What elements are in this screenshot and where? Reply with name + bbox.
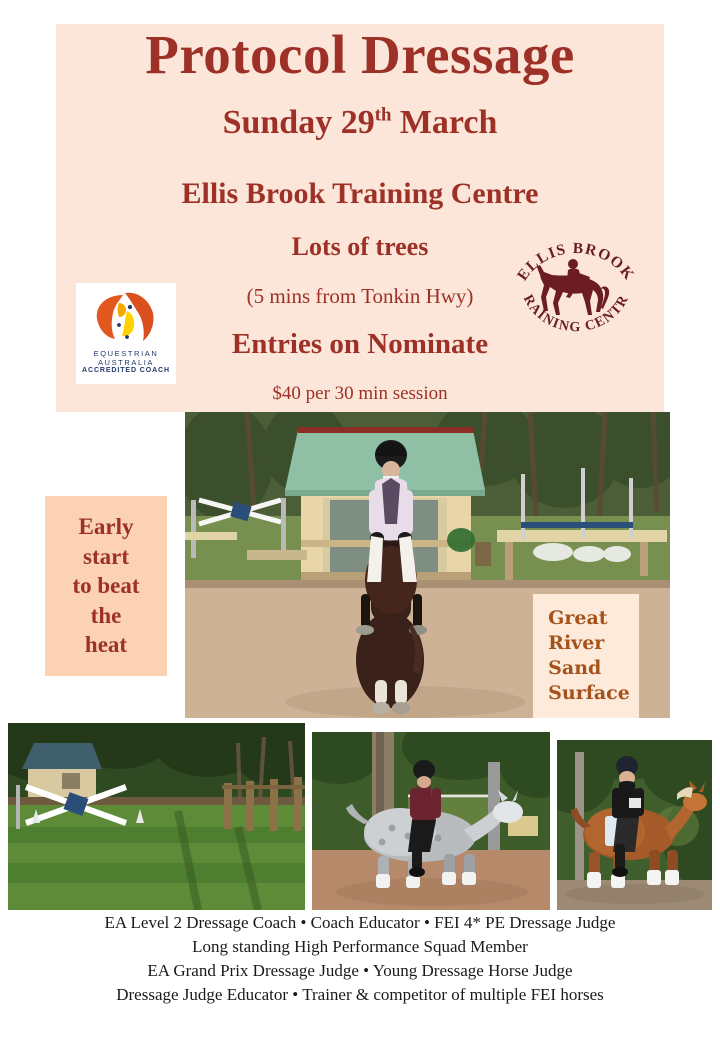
ea-logo-line2: AUSTRALIA	[76, 358, 176, 367]
event-venue: Ellis Brook Training Centre	[56, 177, 664, 211]
photo-grey-horse-trot	[312, 732, 550, 910]
ea-logo-line1: EQUESTRIAN	[76, 349, 176, 358]
event-date-month: March	[391, 104, 497, 141]
callout-early-start: Earlystartto beattheheat	[45, 496, 167, 676]
photo-grass-arena-cross-rail	[8, 723, 305, 910]
credentials-line-4: Dressage Judge Educator • Trainer & comp…	[0, 983, 720, 1007]
callout-sand-surface: GreatRiverSandSurface	[533, 594, 639, 718]
credentials-footer: EA Level 2 Dressage Coach • Coach Educat…	[0, 911, 720, 1008]
photo-chestnut-horse-trot	[557, 740, 712, 910]
horse-and-rider-silhouette-icon	[537, 259, 609, 315]
credentials-line-2: Long standing High Performance Squad Mem…	[0, 935, 720, 959]
callout-sand-surface-text: GreatRiverSandSurface	[542, 606, 630, 706]
event-date-ordinal: th	[375, 105, 392, 126]
ellis-brook-logo: ELLIS BROOK TRAINING CENTRE	[506, 231, 646, 349]
credentials-line-1: EA Level 2 Dressage Coach • Coach Educat…	[0, 911, 720, 935]
event-date: Sunday 29th March	[56, 104, 664, 142]
page-title: Protocol Dressage	[56, 26, 664, 83]
price-notice: $40 per 30 min session	[130, 383, 590, 405]
ea-logo-line3: ACCREDITED COACH	[76, 367, 176, 376]
callout-early-start-text: Earlystartto beattheheat	[72, 512, 139, 659]
event-date-day: Sunday 29	[223, 104, 375, 141]
equestrian-australia-logo: EQUESTRIAN AUSTRALIA ACCREDITED COACH	[76, 283, 176, 384]
horse-head-mark-icon	[89, 289, 163, 347]
credentials-line-3: EA Grand Prix Dressage Judge • Young Dre…	[0, 959, 720, 983]
